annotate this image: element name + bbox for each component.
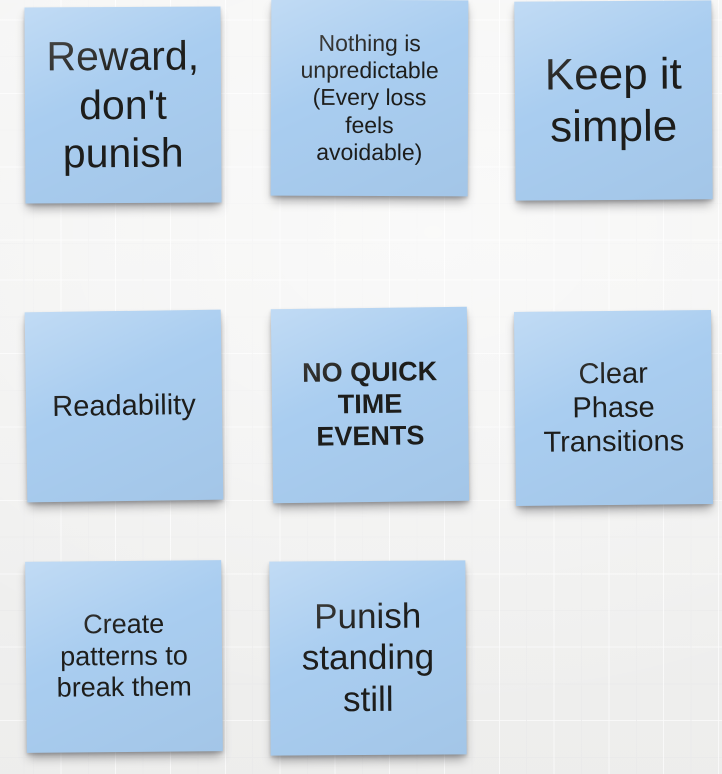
note-create-patterns-to-break-them[interactable]: Create patterns to break them xyxy=(25,560,223,753)
note-text: Punish standing still xyxy=(280,595,457,720)
note-text: Create patterns to break them xyxy=(36,608,213,705)
note-nothing-is-unpredictable[interactable]: Nothing is unpredictable (Every loss fee… xyxy=(271,0,469,196)
note-text: NO QUICK TIME EVENTS xyxy=(281,356,458,454)
note-text: Keep it simple xyxy=(525,48,703,153)
note-punish-standing-still[interactable]: Punish standing still xyxy=(269,560,466,755)
note-text: Reward, don't punish xyxy=(35,32,212,178)
note-reward-dont-punish[interactable]: Reward, don't punish xyxy=(24,6,221,203)
note-text: Nothing is unpredictable (Every loss fee… xyxy=(281,30,458,166)
note-clear-phase-transitions[interactable]: Clear Phase Transitions xyxy=(514,310,713,506)
note-no-quick-time-events[interactable]: NO QUICK TIME EVENTS xyxy=(271,307,469,503)
note-text: Readability xyxy=(36,388,212,425)
note-readability[interactable]: Readability xyxy=(25,310,224,503)
note-text: Clear Phase Transitions xyxy=(524,356,702,461)
note-keep-it-simple[interactable]: Keep it simple xyxy=(514,0,712,200)
sticky-note-board: Reward, don't punishNothing is unpredict… xyxy=(0,0,722,774)
